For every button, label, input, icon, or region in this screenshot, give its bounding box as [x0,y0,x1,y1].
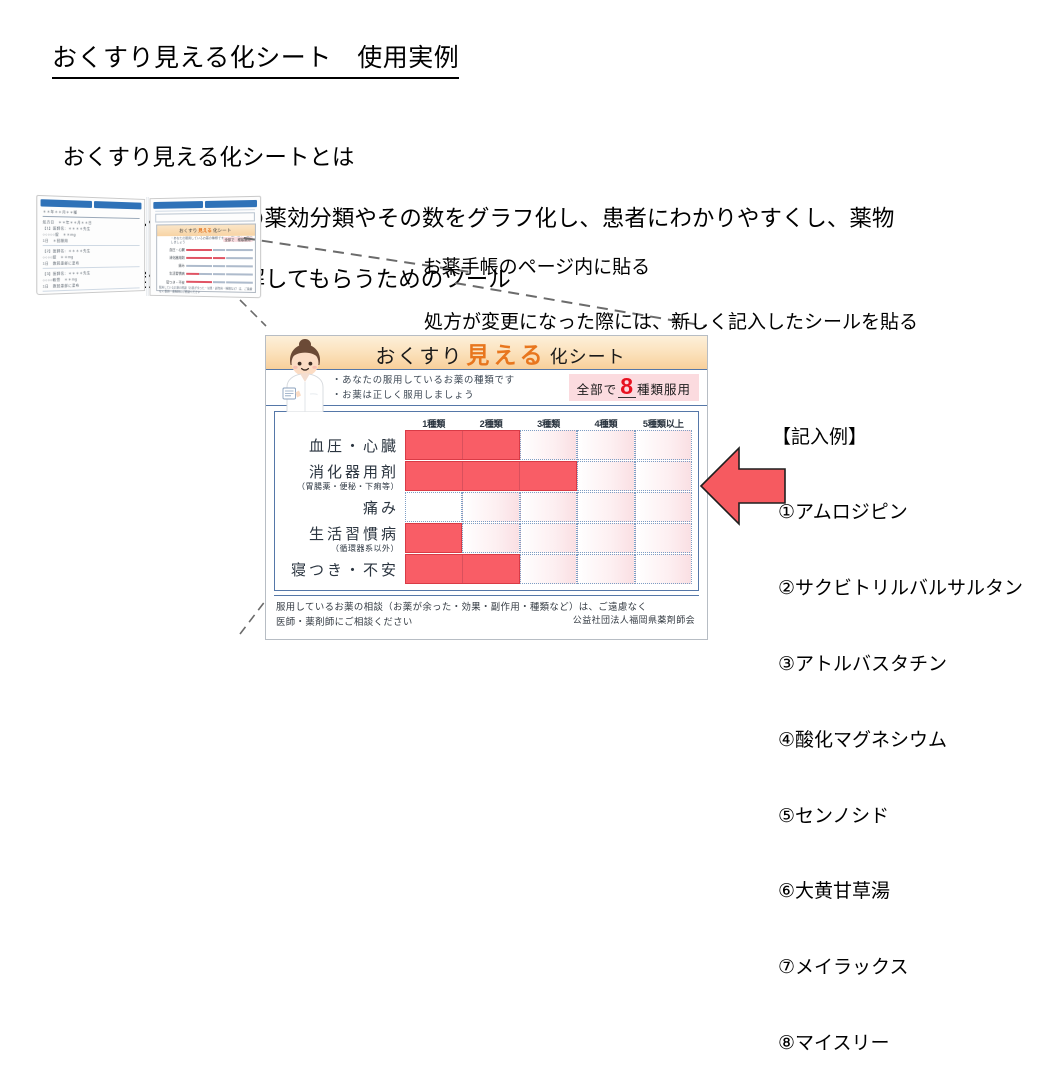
mini-row-label: 痛み [159,263,186,268]
grid-cell [635,430,692,460]
notebook-right-box [155,212,255,222]
row-label: 生活習慣病 （循環器系以外） [279,523,405,553]
notebook-left-line-4: 1日 ＊回服用 [43,238,140,243]
example-item-1: ①アムロジピン [772,500,1023,525]
example-item-3: ③アトルバスタチン [772,652,1023,677]
mini-total-badge: 全部で 種類服用 [223,237,253,242]
footer-organization: 公益社団法人福岡県薬剤師会 [573,613,695,626]
sheet-title-pre: おくすり [375,346,463,368]
badge-count: 8 [618,376,636,399]
grid-cell [577,430,634,460]
grid-cell [635,461,692,491]
mini-row-label: 血圧・心臓 [159,247,186,252]
badge-suffix: 種類服用 [637,379,691,398]
sheet-bullet-list: ・あなたの服用しているお薬の種類です ・お薬は正しく服用しましょう [332,373,515,401]
row-label-main: 痛み [363,497,399,518]
mini-row-track [186,273,253,276]
row-track [405,430,692,460]
connector-bottomleft [240,600,266,634]
mini-row-track [186,249,253,251]
column-header-4: 4種類 [577,416,634,430]
chart-row-pain: 痛み [279,492,692,522]
column-header-5: 5種類以上 [635,416,692,430]
mini-title-post: 化シート [213,227,232,233]
mini-sheet-chart: 血圧・心臓 消化器用剤 痛み 生活習慣病 寝つき・不安 [157,245,255,288]
mini-chart-row: 痛み [159,262,253,270]
row-label-sub: （循環器系以外） [331,543,399,554]
grid-cell [405,492,462,522]
grid-cell [520,554,577,584]
row-label: 痛み [279,492,405,522]
mini-sheet-sticker: おくすり見える化シート ・あなたの服用しているお薬の種類です ・お薬は正しく服用… [156,223,256,293]
notebook-left-line-7: 1日 数回患部に塗布 [43,259,140,265]
divider [43,245,140,246]
callout-line-1: お薬手帳のページ内に貼る [423,257,651,278]
row-track [405,554,692,584]
notebook-left-header [41,199,142,209]
mini-sheet-footer: 服用しているお薬の相談（お薬が余った・効果・副作用・種類など）は、ご遠慮なく 医… [157,287,255,296]
notebook-left-page: ＊＊年＊＊月＊＊種 処方日 ＊＊年＊＊月＊＊日 【1】医師名：＊＊＊＊先生 ○○… [36,195,145,295]
chart-row-sleep-anxiety: 寝つき・不安 [279,554,692,584]
medication-bar-chart: 1種類 2種類 3種類 4種類 5種類以上 血圧・心臓 [274,411,699,591]
grid-cell [635,523,692,553]
notebook-right-header [153,200,257,209]
row-track [405,523,692,553]
page-title: おくすり見える化シート 使用実例 [52,38,459,79]
value-bar [405,554,520,584]
example-item-8: ⑧マイスリー [772,1031,1023,1056]
mini-chart-row: 血圧・心臓 [159,246,253,253]
chart-row-digestive: 消化器用剤 （胃腸薬・便秘・下痢等） [279,461,692,491]
mini-row-track [186,265,253,268]
example-item-6: ⑥大黄甘草湯 [772,879,1023,904]
sheet-title-post: 化シート [550,347,626,367]
notebook-right-page: おくすり見える化シート ・あなたの服用しているお薬の種類です ・お薬は正しく服用… [150,196,262,299]
mini-row-track [186,281,253,284]
notebook-left-line-2: 【1】医師名：＊＊＊＊先生 [43,225,140,231]
mini-title-accent: 見える [197,227,213,233]
column-header-3: 3種類 [520,416,577,430]
grid-cell [577,492,634,522]
row-label-main: 血圧・心臓 [309,435,399,456]
sheet-title: おくすり見える化シート [347,336,625,370]
notebook-left-line-3: ○○○○○錠 ＊＊mg [43,231,140,237]
value-bar [405,430,520,460]
mini-row-label: 寝つき・不安 [159,279,186,284]
example-item-2: ②サクビトリルバルサルタン [772,576,1023,601]
grid-cell [577,523,634,553]
row-label: 消化器用剤 （胃腸薬・便秘・下痢等） [279,461,405,491]
header-cells: 1種類 2種類 3種類 4種類 5種類以上 [405,416,692,430]
notebook-left-line-5: 【2】医師名：＊＊＊＊先生 [43,248,140,253]
grid-cell [462,523,519,553]
chart-row-blood-pressure: 血圧・心臓 [279,430,692,460]
chart-row-lifestyle: 生活習慣病 （循環器系以外） [279,523,692,553]
row-label-main: 寝つき・不安 [291,559,399,580]
connector-topleft [240,300,266,326]
example-list-heading: 【記入例】 [772,425,1023,450]
notebook-left-line-0: ＊＊年＊＊月＊＊種 [43,209,140,217]
row-label-main: 消化器用剤 [309,461,399,482]
grid-cell [520,492,577,522]
grid-cell [577,461,634,491]
column-header-2: 2種類 [462,416,519,430]
mini-row-label: 生活習慣病 [159,271,186,276]
total-medication-badge: 全部で8種類服用 [569,374,699,402]
value-bar [405,523,462,553]
grid-cell [520,523,577,553]
mini-sheet-title: おくすり見える化シート [157,225,255,237]
row-label-sub: （胃腸薬・便秘・下痢等） [297,481,399,492]
example-item-7: ⑦メイラックス [772,955,1023,980]
row-track [405,492,692,522]
example-medication-list: 【記入例】 ①アムロジピン ②サクビトリルバルサルタン ③アトルバスタチン ④酸… [772,374,1023,1081]
mini-chart-row: 寝つき・不安 [159,278,253,287]
mini-row-track [186,257,253,259]
lead-line-1: おくすり見える化シートとは [63,145,355,170]
medicine-notebook-thumbnail: ＊＊年＊＊月＊＊種 処方日 ＊＊年＊＊月＊＊日 【1】医師名：＊＊＊＊先生 ○○… [32,197,264,299]
sheet-footer: 服用しているお薬の相談（お薬が余った・効果・副作用・種類など）は、ご遠慮なく 医… [274,595,699,629]
okusuri-mieruka-sheet: おくすり見える化シート ・あなたの服用しているお薬の種類です ・お薬は正しく服用… [265,335,708,640]
chart-wrapper: 1種類 2種類 3種類 4種類 5種類以上 血圧・心臓 [266,406,707,593]
sheet-title-accent: 見える [463,342,549,368]
grid-cell [577,554,634,584]
grid-cell [520,430,577,460]
callout-line-2: 処方が変更になった際には、新しく記入したシールを貼る [412,309,918,337]
example-item-5: ⑤センノシド [772,804,1023,829]
column-header-1: 1種類 [405,416,462,430]
grid-cell [635,492,692,522]
mini-row-label: 消化器用剤 [159,255,186,260]
example-item-4: ④酸化マグネシウム [772,728,1023,753]
badge-prefix: 全部で [577,379,618,398]
grid-cell [462,492,519,522]
divider [155,209,255,212]
mini-chart-row: 消化器用剤 [159,254,253,262]
notebook-spine [146,197,149,296]
row-label: 寝つき・不安 [279,554,405,584]
value-bar [405,461,577,491]
pharmacist-icon [274,338,336,412]
row-track [405,461,692,491]
chart-column-headers: 1種類 2種類 3種類 4種類 5種類以上 [279,416,692,430]
mini-title-pre: おくすり [179,228,197,234]
row-label-main: 生活習慣病 [309,523,399,544]
row-label: 血圧・心臓 [279,430,405,460]
header-spacer [279,416,405,430]
grid-cell [635,554,692,584]
